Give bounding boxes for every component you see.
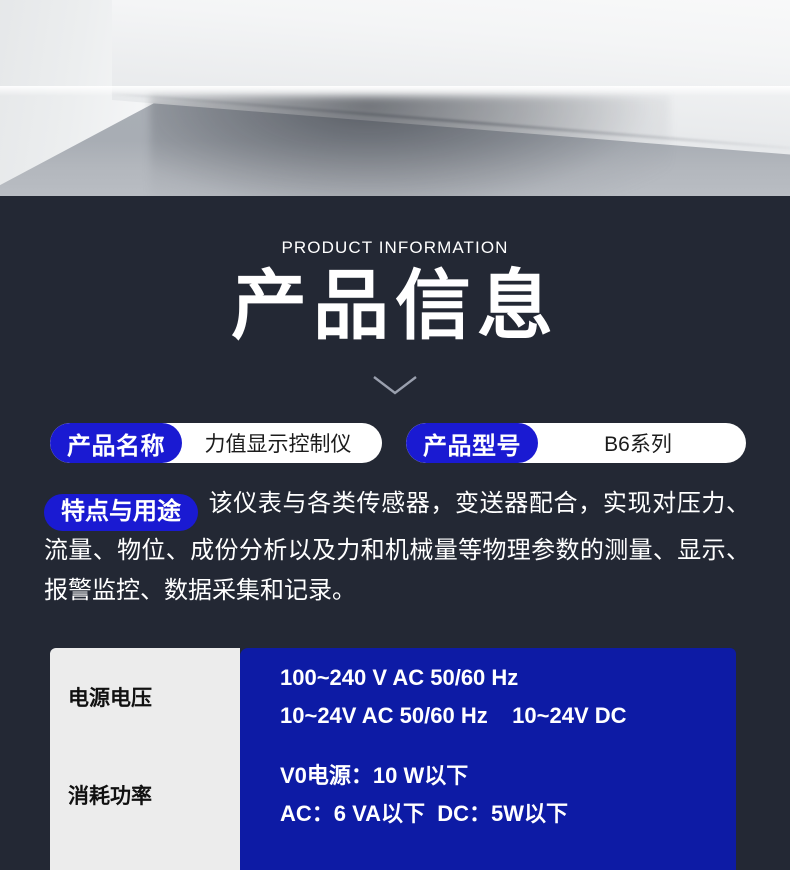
section-eyebrow: PRODUCT INFORMATION [0, 238, 790, 258]
spec-pill-product-model: 产品型号 B6系列 [406, 423, 746, 463]
spec-value-line: 10~24V AC 50/60 Hz 10~24V DC [280, 701, 736, 731]
spec-value-line: V0电源：10 W以下 [280, 761, 736, 791]
chevron-down-icon [0, 372, 790, 398]
product-info-page: PRODUCT INFORMATION 产品信息 产品名称 力值显示控制仪 产品… [0, 0, 790, 870]
table-row: 消耗功率 V0电源：10 W以下 AC：6 VA以下 DC：5W以下 [50, 746, 736, 844]
feature-tag-label: 特点与用途 [44, 494, 198, 531]
spec-row-value: 100~240 V AC 50/60 Hz 10~24V AC 50/60 Hz… [240, 648, 736, 746]
product-photo [0, 0, 790, 196]
pill-value-label: B6系列 [538, 428, 746, 458]
pill-key-label: 产品名称 [50, 423, 182, 463]
spec-row-key: 消耗功率 [50, 746, 240, 844]
info-section: PRODUCT INFORMATION 产品信息 产品名称 力值显示控制仪 产品… [0, 196, 790, 870]
spec-row-value [240, 844, 736, 870]
spec-pill-product-name: 产品名称 力值显示控制仪 [50, 423, 382, 463]
spec-row-key [50, 844, 240, 870]
pill-value-label: 力值显示控制仪 [182, 428, 382, 458]
spec-row-key: 电源电压 [50, 648, 240, 746]
table-row-partial [50, 844, 736, 870]
spec-row-value: V0电源：10 W以下 AC：6 VA以下 DC：5W以下 [240, 746, 736, 844]
spec-value-line: AC：6 VA以下 DC：5W以下 [280, 799, 736, 829]
table-row: 电源电压 100~240 V AC 50/60 Hz 10~24V AC 50/… [50, 648, 736, 746]
pill-shell: 产品型号 B6系列 [406, 423, 746, 463]
page-title: 产品信息 [0, 264, 790, 349]
floor-highlight [0, 86, 790, 96]
spec-value-line: 100~240 V AC 50/60 Hz [280, 663, 736, 693]
product-drop-shadow [150, 96, 670, 196]
pill-shell: 产品名称 力值显示控制仪 [50, 423, 382, 463]
spec-table: 电源电压 100~240 V AC 50/60 Hz 10~24V AC 50/… [50, 648, 736, 870]
feature-paragraph: 特点与用途该仪表与各类传感器，变送器配合，实现对压力、流量、物位、成份分析以及力… [44, 484, 750, 611]
pill-key-label: 产品型号 [406, 423, 538, 463]
